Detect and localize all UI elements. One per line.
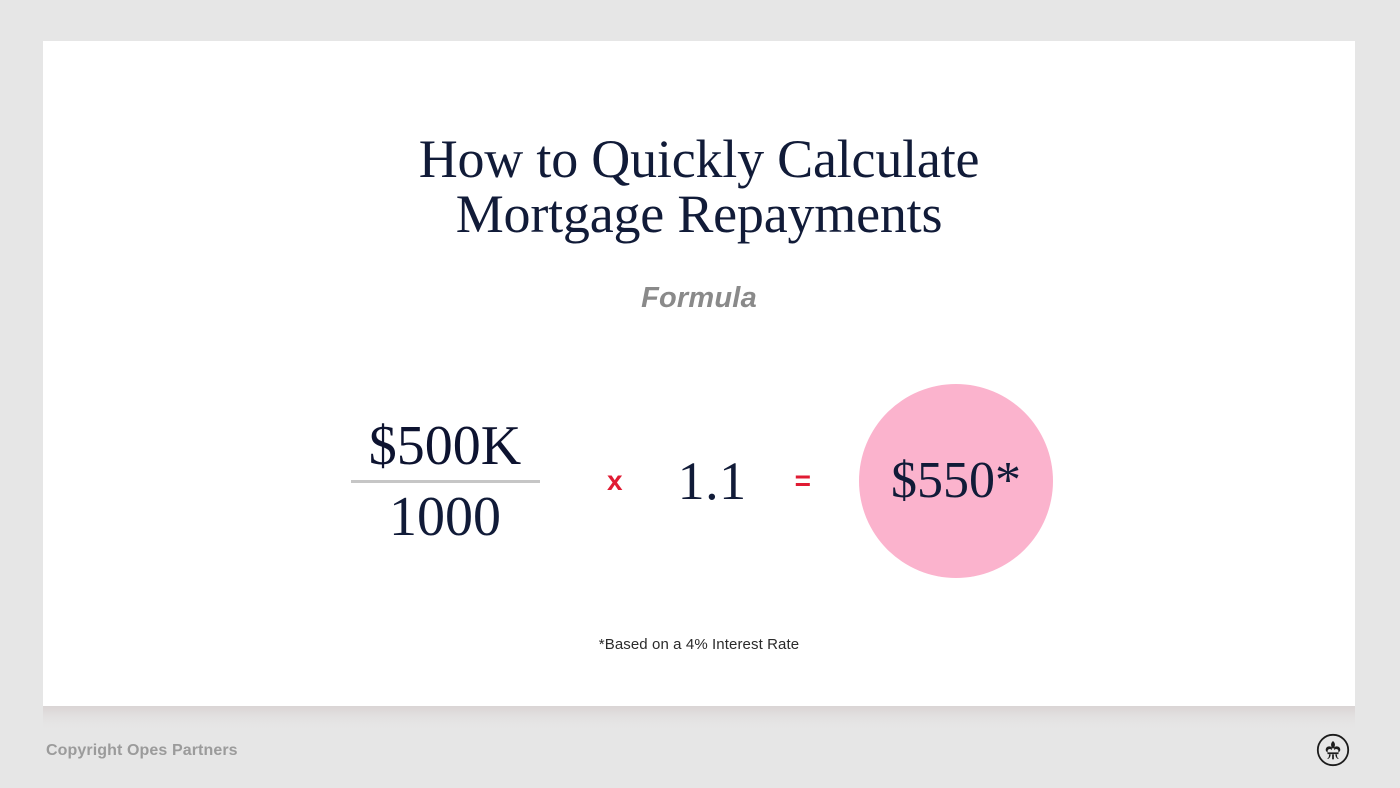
fraction-bar: [351, 480, 540, 483]
footnote-text: *Based on a 4% Interest Rate: [43, 636, 1355, 653]
slide-card: How to Quickly Calculate Mortgage Repaym…: [43, 41, 1355, 706]
title-line-2: Mortgage Repayments: [43, 187, 1355, 241]
result-bubble: $550*: [859, 384, 1053, 578]
fraction-denominator: 1000: [389, 487, 501, 547]
result-value: $550*: [891, 455, 1021, 507]
fleur-de-lis-logo: [1316, 733, 1350, 767]
fraction-group: $500K 1000: [345, 416, 545, 547]
formula-expression: $500K 1000 x 1.1 = $550*: [43, 361, 1355, 601]
fraction-numerator: $500K: [369, 416, 521, 476]
title-line-1: How to Quickly Calculate: [43, 132, 1355, 186]
copyright-text: Copyright Opes Partners: [46, 742, 238, 760]
equals-operator-icon: =: [795, 467, 811, 495]
subtitle-label: Formula: [43, 282, 1355, 315]
page-title: How to Quickly Calculate Mortgage Repaym…: [43, 132, 1355, 241]
multiplier-value: 1.1: [678, 454, 747, 508]
multiply-operator-icon: x: [607, 467, 623, 495]
slide-shadow: [43, 706, 1355, 732]
